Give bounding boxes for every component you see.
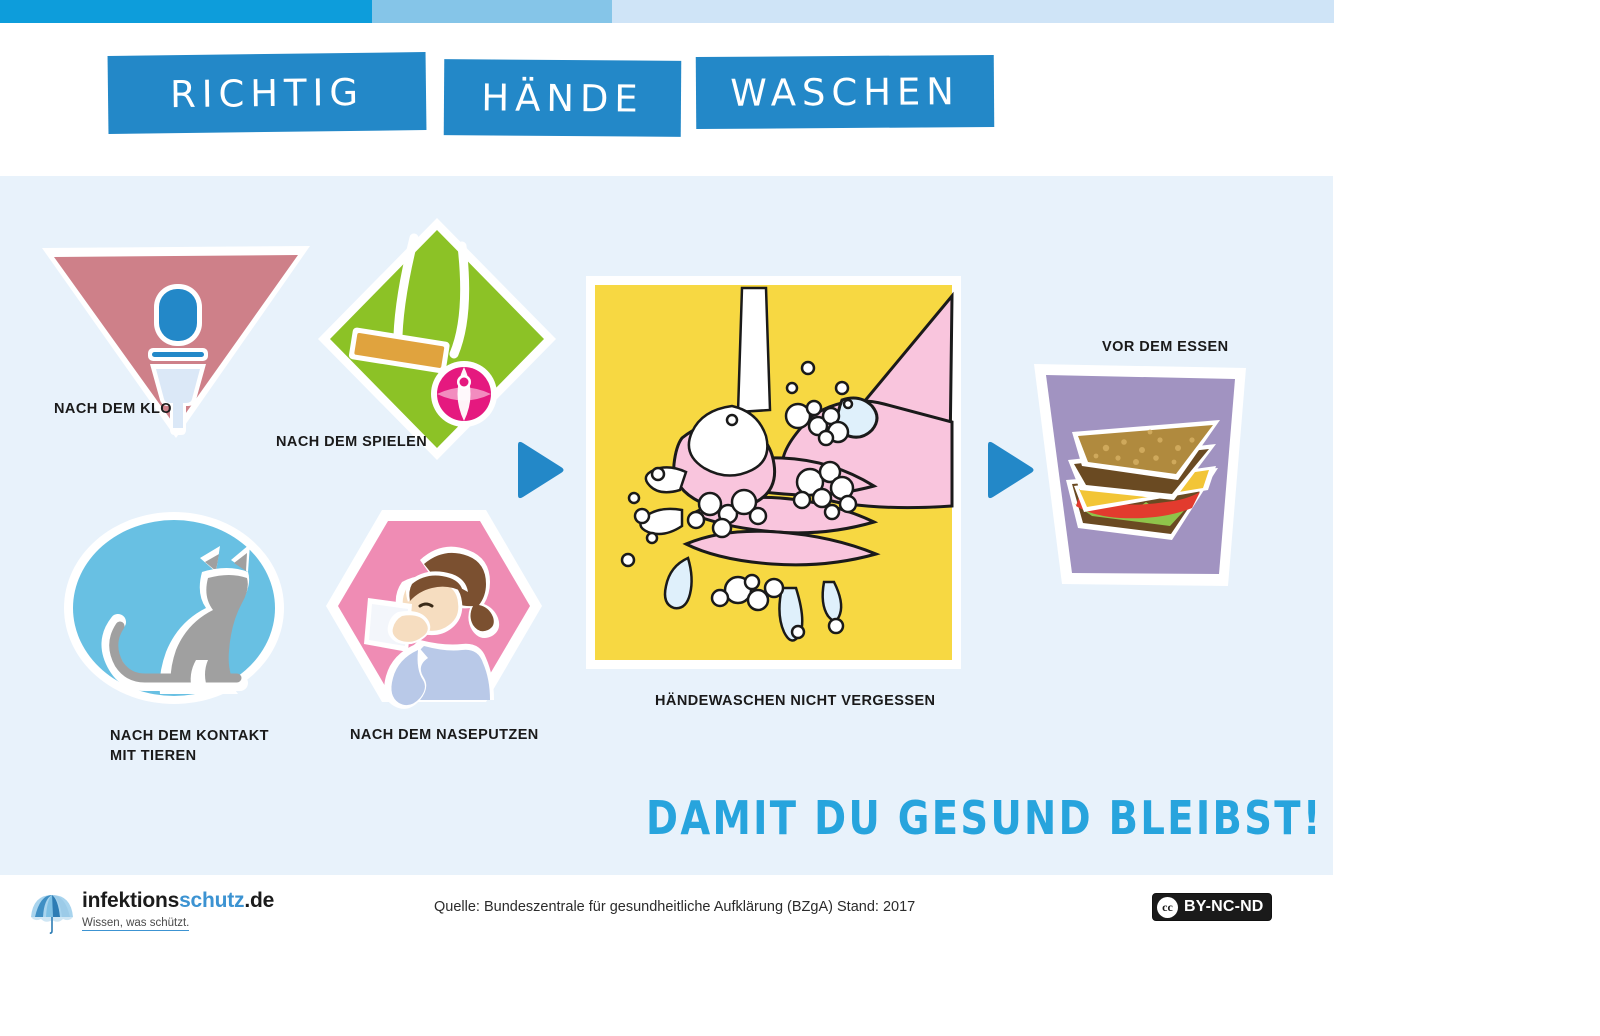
- step-tile-playing: [316, 216, 558, 462]
- logo-name-part2: schutz: [179, 889, 244, 912]
- top-color-bar: [0, 0, 1334, 23]
- topbar-segment-mid: [372, 0, 612, 23]
- title-word-richtig: RICHTIG: [108, 52, 427, 134]
- caption-eating: VOR DEM ESSEN: [1102, 338, 1229, 358]
- topbar-segment-dark: [0, 0, 372, 23]
- poster-root: RICHTIG HÄNDE WASCHEN NACH DEM KLO: [0, 0, 1600, 1036]
- caption-animals: NACH DEM KONTAKT MIT TIEREN: [110, 727, 269, 766]
- logo-name-part1: infektions: [82, 889, 179, 912]
- source-credit: Quelle: Bundeszentrale für gesundheitlic…: [434, 899, 915, 915]
- caption-main-washing: HÄNDEWASCHEN NICHT VERGESSEN: [655, 692, 935, 712]
- caption-toilet: NACH DEM KLO: [54, 400, 172, 420]
- poster-title: RICHTIG HÄNDE WASCHEN: [108, 54, 994, 136]
- cc-icon: cc: [1157, 897, 1178, 918]
- title-word-haende: HÄNDE: [444, 59, 682, 137]
- arrow-to-washing: [512, 440, 568, 502]
- step-tile-nose: [324, 508, 544, 704]
- main-washing-tile: [586, 276, 961, 669]
- infektionsschutz-logo[interactable]: infektionsschutz.de Wissen, was schützt.: [30, 889, 274, 934]
- logo-name-part3: .de: [244, 889, 274, 912]
- footer: infektionsschutz.de Wissen, was schützt.…: [0, 875, 1600, 1036]
- caption-nose: NACH DEM NASEPUTZEN: [350, 726, 539, 746]
- topbar-segment-light: [612, 0, 1334, 23]
- cc-license-badge[interactable]: cc BY-NC-ND: [1152, 893, 1272, 921]
- logo-tagline: Wissen, was schützt.: [82, 917, 189, 931]
- caption-playing: NACH DEM SPIELEN: [276, 433, 427, 453]
- logo-name: infektionsschutz.de: [82, 889, 274, 913]
- title-word-waschen: WASCHEN: [696, 55, 994, 129]
- beach-ball-icon: [431, 361, 497, 427]
- slogan: DAMIT DU GESUND BLEIBST!: [646, 791, 1323, 845]
- umbrella-icon: [30, 892, 74, 934]
- cc-license-terms: BY-NC-ND: [1184, 898, 1264, 916]
- step-tile-eating: [1032, 362, 1248, 588]
- logo-wordmark: infektionsschutz.de Wissen, was schützt.: [82, 889, 274, 931]
- arrow-to-eating: [982, 440, 1038, 502]
- step-tile-animals: [62, 510, 286, 706]
